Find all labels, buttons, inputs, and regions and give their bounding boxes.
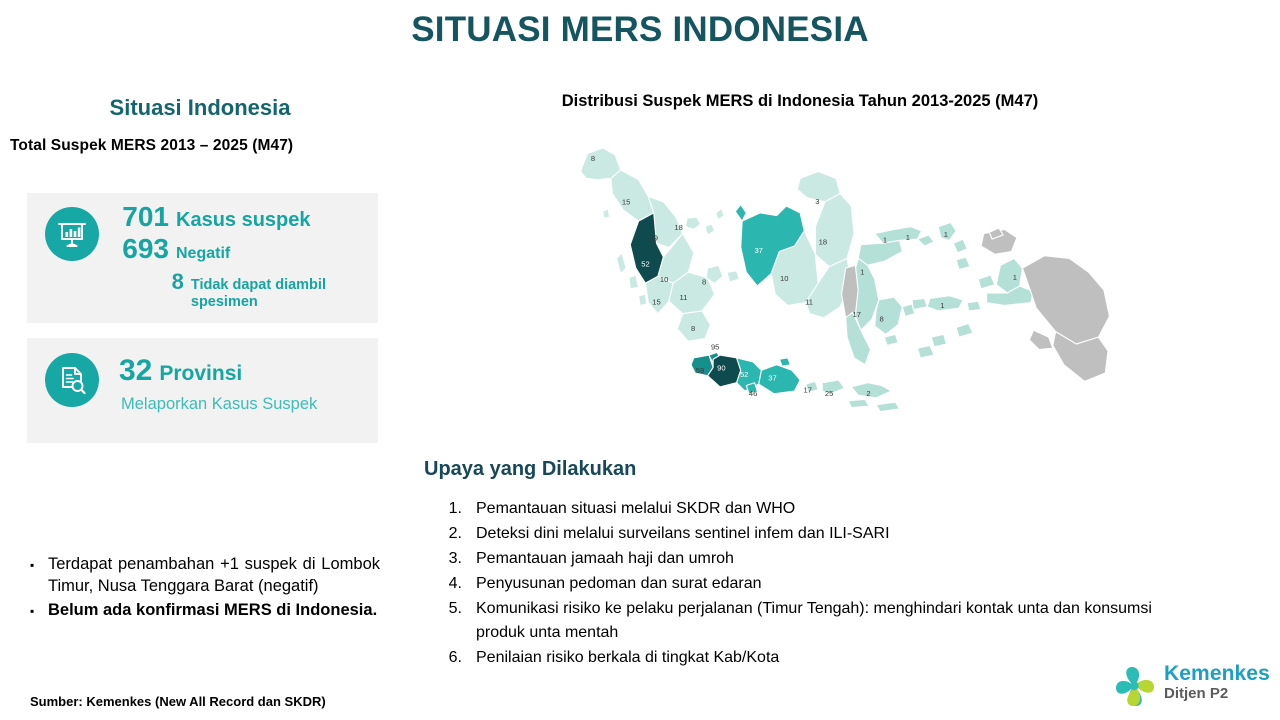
list-item: 1. Pemantauan situasi melalui SKDR dan W… bbox=[420, 497, 1200, 521]
map-value-label: 1 bbox=[860, 267, 864, 276]
stat-sublabel-provinces: Melaporkan Kasus Suspek bbox=[121, 395, 374, 414]
stat-number-suspected: 701 bbox=[111, 201, 169, 233]
map-region bbox=[851, 383, 891, 398]
logo-text: Kemenkes Ditjen P2 bbox=[1164, 662, 1270, 702]
map-value-label: 1 bbox=[1013, 273, 1017, 282]
map-region bbox=[927, 296, 963, 311]
stat-card-cases: 701 Kasus suspek 693 Negatif 8 Tidak dap… bbox=[27, 193, 378, 323]
kemenkes-logo: Kemenkes Ditjen P2 bbox=[1112, 662, 1272, 714]
stat-lines-provinces: 32 Provinsi Melaporkan Kasus Suspek bbox=[119, 354, 374, 414]
map-value-label: 1 bbox=[883, 236, 887, 245]
slide-root: SITUASI MERS INDONESIA Situasi Indonesia… bbox=[0, 0, 1280, 720]
list-item-text: Komunikasi risiko ke pelaku perjalanan (… bbox=[476, 597, 1200, 645]
list-item-number: 6. bbox=[420, 646, 476, 670]
efforts-ordered-list: 1. Pemantauan situasi melalui SKDR dan W… bbox=[420, 497, 1200, 671]
list-item-number: 5. bbox=[420, 597, 476, 645]
map-value-label: 1 bbox=[940, 301, 944, 310]
map-value-label: 46 bbox=[749, 389, 757, 398]
stat-number-no-specimen: 8 bbox=[111, 269, 184, 294]
map-region bbox=[779, 358, 790, 366]
map-value-label: 15 bbox=[622, 198, 630, 207]
map-value-label: 10 bbox=[660, 275, 668, 284]
list-item-text: Pemantauan situasi melalui SKDR dan WHO bbox=[476, 497, 1200, 521]
map-region bbox=[705, 224, 715, 235]
stat-number-negative: 693 bbox=[111, 233, 169, 265]
map-value-label: 8 bbox=[691, 324, 695, 333]
indonesia-choropleth-map: 8151918521015118859959046523717252337181… bbox=[450, 130, 1240, 420]
list-item: ▪ Belum ada konfirmasi MERS di Indonesia… bbox=[30, 599, 380, 622]
list-item: 4. Penyusunan pedoman dan surat edaran bbox=[420, 572, 1200, 596]
map-region bbox=[918, 345, 935, 357]
map-region bbox=[884, 334, 898, 345]
list-item-number: 2. bbox=[420, 522, 476, 546]
map-value-label: 11 bbox=[679, 293, 687, 302]
bullet-text: Terdapat penambahan +1 suspek di Lombok … bbox=[48, 553, 380, 597]
map-value-label: 59 bbox=[696, 366, 704, 375]
list-item-number: 3. bbox=[420, 547, 476, 571]
map-value-label: 11 bbox=[805, 298, 813, 307]
list-item: 3. Pemantauan jamaah haji dan umroh bbox=[420, 547, 1200, 571]
source-note: Sumber: Kemenkes (New All Record dan SKD… bbox=[30, 694, 326, 709]
bullet-text: Belum ada konfirmasi MERS di Indonesia. bbox=[48, 599, 380, 622]
map-region bbox=[978, 275, 995, 289]
map-region bbox=[611, 170, 654, 221]
map-value-label: 52 bbox=[641, 260, 649, 269]
map-region bbox=[603, 209, 610, 219]
left-column: Situasi Indonesia Total Suspek MERS 2013… bbox=[0, 95, 400, 155]
clover-logo-icon bbox=[1112, 664, 1158, 710]
map-value-label: 8 bbox=[702, 278, 706, 287]
map-region bbox=[727, 271, 739, 282]
map-region bbox=[956, 323, 973, 337]
map-region bbox=[629, 275, 639, 289]
stat-label-provinces: Provinsi bbox=[159, 362, 242, 386]
map-value-label: 17 bbox=[853, 310, 861, 319]
map-title: Distribusi Suspek MERS di Indonesia Tahu… bbox=[420, 92, 1180, 111]
map-region bbox=[858, 240, 902, 265]
presentation-chart-icon bbox=[45, 207, 99, 261]
map-value-label: 37 bbox=[768, 374, 776, 383]
map-region bbox=[759, 365, 800, 394]
map-value-label: 15 bbox=[652, 298, 660, 307]
map-value-label: 19 bbox=[650, 233, 658, 242]
map-value-label: 8 bbox=[591, 154, 595, 163]
stat-label-no-specimen: Tidak dapat diambil spesimen bbox=[191, 277, 374, 310]
map-value-label: 1 bbox=[906, 233, 910, 242]
map-region bbox=[912, 298, 927, 309]
map-region bbox=[815, 194, 854, 267]
map-value-label: 18 bbox=[674, 223, 682, 232]
map-region bbox=[918, 235, 935, 246]
stat-line-negative: 693 Negatif bbox=[111, 233, 374, 265]
map-region bbox=[956, 257, 970, 269]
list-item: 2. Deteksi dini melalui surveilans senti… bbox=[420, 522, 1200, 546]
list-item: ▪ Terdapat penambahan +1 suspek di Lombo… bbox=[30, 553, 380, 597]
map-region bbox=[848, 399, 869, 407]
list-item-number: 1. bbox=[420, 497, 476, 521]
map-region bbox=[931, 334, 946, 346]
document-search-icon bbox=[45, 353, 99, 407]
list-item-text: Pemantauan jamaah haji dan umroh bbox=[476, 547, 1200, 571]
map-region bbox=[967, 301, 981, 311]
map-value-label: 90 bbox=[717, 363, 725, 372]
map-value-label: 10 bbox=[780, 274, 788, 283]
map-value-label: 1 bbox=[944, 230, 948, 239]
logo-title: Kemenkes bbox=[1164, 662, 1270, 685]
map-region bbox=[716, 209, 724, 220]
map-value-label: 18 bbox=[819, 238, 827, 247]
logo-subtitle: Ditjen P2 bbox=[1164, 685, 1270, 702]
list-item-text: Penilaian risiko berkala di tingkat Kab/… bbox=[476, 646, 1200, 670]
stat-number-provinces: 32 bbox=[119, 354, 152, 388]
left-section-heading: Situasi Indonesia bbox=[0, 95, 400, 121]
map-svg: 8151918521015118859959046523717252337181… bbox=[450, 130, 1240, 420]
stat-line-no-specimen: 8 Tidak dapat diambil spesimen bbox=[111, 269, 374, 310]
map-region bbox=[639, 294, 647, 305]
stat-line-suspected: 701 Kasus suspek bbox=[111, 201, 374, 233]
map-value-label: 25 bbox=[825, 389, 833, 398]
map-region bbox=[616, 253, 626, 274]
left-section-subheading: Total Suspek MERS 2013 – 2025 (M47) bbox=[10, 137, 400, 155]
map-region bbox=[686, 217, 701, 229]
list-item: 6. Penilaian risiko berkala di tingkat K… bbox=[420, 646, 1200, 670]
map-value-label: 3 bbox=[815, 197, 819, 206]
map-region bbox=[735, 205, 746, 222]
stat-label-suspected: Kasus suspek bbox=[176, 209, 311, 232]
efforts-heading: Upaya yang Dilakukan bbox=[424, 458, 636, 481]
square-bullet-icon: ▪ bbox=[30, 553, 48, 597]
notes-bullet-list: ▪ Terdapat penambahan +1 suspek di Lombo… bbox=[30, 553, 380, 624]
map-value-label: 17 bbox=[803, 385, 811, 394]
list-item-text: Deteksi dini melalui surveilans sentinel… bbox=[476, 522, 1200, 546]
stat-label-negative: Negatif bbox=[176, 245, 230, 263]
map-region-nodata bbox=[1029, 330, 1052, 349]
stat-card-provinces: 32 Provinsi Melaporkan Kasus Suspek bbox=[27, 338, 378, 443]
map-region bbox=[953, 239, 967, 253]
map-region bbox=[876, 402, 899, 412]
list-item: 5. Komunikasi risiko ke pelaku perjalana… bbox=[420, 597, 1200, 645]
list-item-text: Penyusunan pedoman dan surat edaran bbox=[476, 572, 1200, 596]
map-value-label: 37 bbox=[754, 246, 762, 255]
map-value-label: 8 bbox=[879, 314, 883, 323]
stat-line-provinces: 32 Provinsi bbox=[119, 354, 374, 388]
page-title: SITUASI MERS INDONESIA bbox=[0, 10, 1280, 50]
stat-lines-cases: 701 Kasus suspek 693 Negatif 8 Tidak dap… bbox=[111, 201, 374, 311]
map-value-label: 2 bbox=[866, 389, 870, 398]
square-bullet-icon: ▪ bbox=[30, 599, 48, 622]
list-item-number: 4. bbox=[420, 572, 476, 596]
map-value-label: 52 bbox=[740, 370, 748, 379]
map-value-label: 95 bbox=[711, 343, 719, 352]
